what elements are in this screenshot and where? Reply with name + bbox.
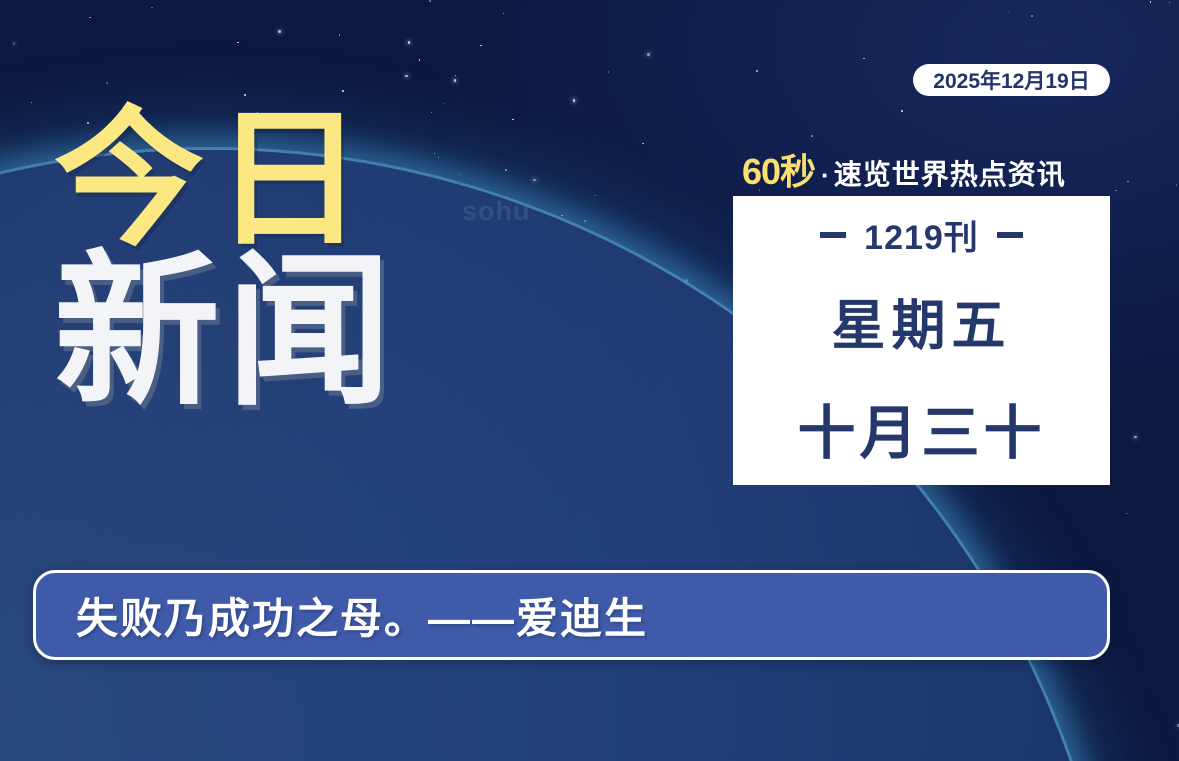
page-title: 今日 新闻 bbox=[54, 104, 398, 418]
date-badge: 2025年12月19日 bbox=[913, 64, 1110, 96]
quote-bar: 失败乃成功之母。——爱迪生 bbox=[33, 570, 1110, 660]
page-title-line2: 新闻 bbox=[54, 248, 398, 418]
news-poster: sohu 今日 新闻 2025年12月19日 60秒 · 速览世界热点资讯 12… bbox=[0, 0, 1179, 761]
tagline: 60秒 · 速览世界热点资讯 bbox=[742, 143, 1066, 195]
tagline-separator: · bbox=[821, 160, 830, 191]
dash-right-icon bbox=[997, 232, 1023, 238]
issue-label: 1219刊 bbox=[864, 210, 979, 259]
issue-info-card: 1219刊 星期五 十月三十 bbox=[733, 196, 1110, 485]
issue-row: 1219刊 bbox=[820, 210, 1023, 259]
watermark: sohu bbox=[462, 196, 531, 227]
lunar-date-label: 十月三十 bbox=[797, 386, 1045, 470]
page-title-line1: 今日 bbox=[54, 104, 398, 254]
tagline-seconds: 60秒 bbox=[742, 143, 815, 195]
quote-text: 失败乃成功之母。——爱迪生 bbox=[76, 585, 648, 646]
weekday-label: 星期五 bbox=[832, 281, 1012, 360]
tagline-text: 速览世界热点资讯 bbox=[834, 153, 1066, 193]
dash-left-icon bbox=[820, 232, 846, 238]
